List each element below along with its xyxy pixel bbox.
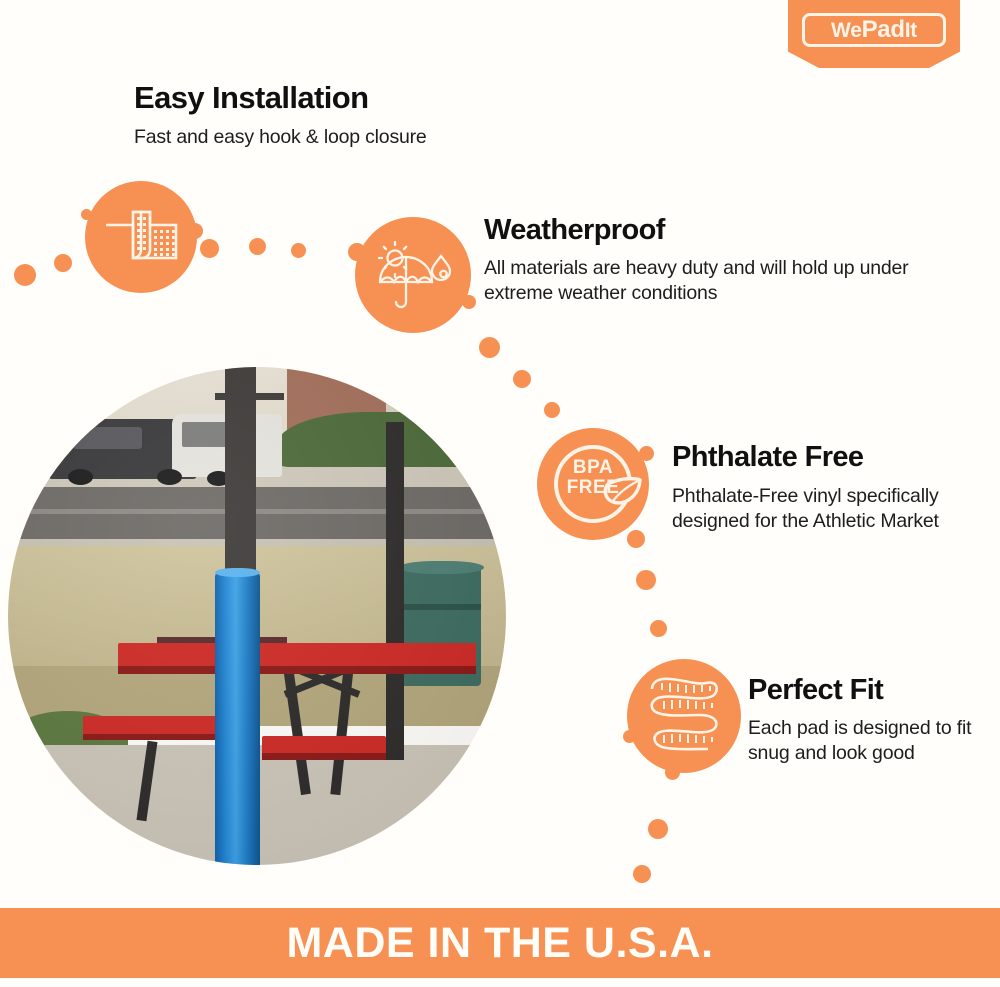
- connector-dot: [513, 370, 531, 388]
- velcro-hook-loop-icon: [103, 209, 179, 265]
- feature-body-weatherproof: All materials are heavy duty and will ho…: [484, 256, 914, 306]
- sun-umbrella-raindrop-icon: [373, 241, 453, 309]
- connector-dot: [636, 570, 656, 590]
- measuring-tape-icon: [646, 673, 722, 759]
- product-photo-circle: [8, 367, 506, 865]
- brand-logo-pad: Pad: [862, 16, 905, 43]
- connector-dot: [291, 243, 306, 258]
- feature-body-phthalate-free: Phthalate-Free vinyl specifically design…: [672, 484, 972, 534]
- feature-body-easy-installation: Fast and easy hook & loop closure: [134, 125, 554, 150]
- bpa-label-line2: FREE: [545, 478, 641, 498]
- feature-icon-circle-easy-installation: [85, 181, 197, 293]
- feature-icon-circle-perfect-fit: [627, 659, 741, 773]
- brand-logo-text: WePadIt: [831, 16, 917, 44]
- connector-dot: [650, 620, 667, 637]
- feature-icon-circle-weatherproof: [355, 217, 471, 333]
- connector-dot: [54, 254, 72, 272]
- connector-dot: [633, 865, 651, 883]
- connector-dot: [544, 402, 560, 418]
- connector-dot: [14, 264, 36, 286]
- brand-logo-banner: WePadIt: [788, 0, 960, 68]
- made-in-usa-text: MADE IN THE U.S.A.: [286, 919, 713, 968]
- feature-title-perfect-fit: Perfect Fit: [748, 674, 883, 707]
- brand-logo-it: It: [905, 19, 917, 42]
- connector-dot: [648, 819, 668, 839]
- made-in-usa-banner: MADE IN THE U.S.A.: [0, 908, 1000, 978]
- bpa-free-leaf-icon: BPA FREE: [545, 436, 641, 532]
- connector-dot: [479, 337, 500, 358]
- brand-logo-frame: WePadIt: [802, 13, 946, 47]
- feature-body-perfect-fit: Each pad is designed to fit snug and loo…: [748, 716, 978, 766]
- brand-logo-we: We: [831, 19, 862, 42]
- photo-vignette: [8, 367, 506, 865]
- feature-title-weatherproof: Weatherproof: [484, 214, 665, 247]
- feature-icon-circle-phthalate-free: BPA FREE: [537, 428, 649, 540]
- feature-title-easy-installation: Easy Installation: [134, 80, 368, 116]
- infographic-canvas: WePadIt Easy Installation Fast and easy …: [0, 0, 1000, 987]
- bpa-label-line1: BPA: [545, 458, 641, 478]
- feature-title-phthalate-free: Phthalate Free: [672, 441, 863, 474]
- connector-dot: [249, 238, 266, 255]
- connector-dot: [200, 239, 219, 258]
